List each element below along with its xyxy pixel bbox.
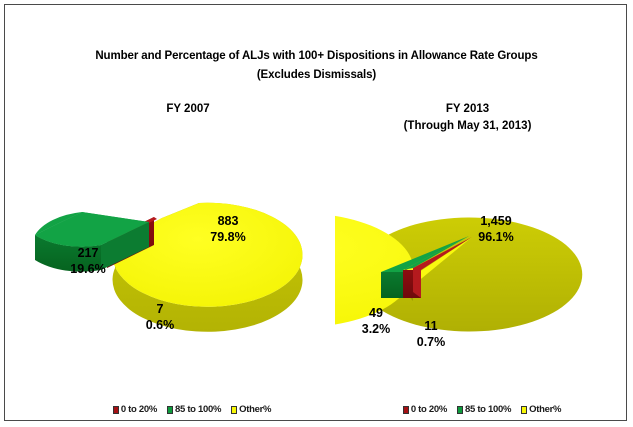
legend-item-0to20[interactable]: 0 to 20% [113, 404, 157, 415]
legend-fy2013: 0 to 20% 85 to 100% Other% [357, 404, 607, 415]
data-label-value: 7 [129, 301, 191, 317]
data-label-value: 883 [197, 213, 259, 229]
data-label-fy2007-other: 883 79.8% [197, 213, 259, 245]
data-label-fy2013-other: 1,459 96.1% [461, 213, 531, 245]
data-label-percent: 79.8% [197, 229, 259, 245]
data-label-fy2007-0to20: 7 0.6% [129, 301, 191, 333]
legend-item-85to100[interactable]: 85 to 100% [457, 404, 511, 415]
data-label-value: 11 [405, 318, 457, 334]
pie-slice-85to100-side [381, 272, 403, 298]
legend-fy2007: 0 to 20% 85 to 100% Other% [67, 404, 317, 415]
legend-label-85to100: 85 to 100% [465, 404, 511, 415]
data-label-percent: 19.6% [57, 261, 119, 277]
data-label-fy2007-85to100: 217 19.6% [57, 245, 119, 277]
legend-label-other: Other% [529, 404, 561, 415]
legend-swatch-green-icon [457, 406, 463, 414]
legend-swatch-red-icon [403, 406, 409, 414]
legend-label-other: Other% [239, 404, 271, 415]
data-label-fy2013-0to20: 11 0.7% [405, 318, 457, 350]
data-label-percent: 96.1% [461, 229, 531, 245]
pie-chart-fy2013 [335, 180, 625, 365]
legend-label-0to20: 0 to 20% [411, 404, 447, 415]
data-label-value: 49 [350, 305, 402, 321]
data-label-percent: 0.6% [129, 317, 191, 333]
data-label-percent: 3.2% [350, 321, 402, 337]
legend-item-other[interactable]: Other% [231, 404, 271, 415]
legend-swatch-green-icon [167, 406, 173, 414]
legend-label-0to20: 0 to 20% [121, 404, 157, 415]
data-label-percent: 0.7% [405, 334, 457, 350]
chart-plot-area: 883 79.8% 217 19.6% 7 0.6% 1,459 96.1% 4… [5, 5, 628, 422]
legend-swatch-red-icon [113, 406, 119, 414]
data-label-value: 217 [57, 245, 119, 261]
chart-frame: Number and Percentage of ALJs with 100+ … [4, 4, 627, 421]
data-label-value: 1,459 [461, 213, 531, 229]
legend-swatch-yellow-icon [521, 406, 527, 414]
legend-swatch-yellow-icon [231, 406, 237, 414]
data-label-fy2013-85to100: 49 3.2% [350, 305, 402, 337]
legend-item-85to100[interactable]: 85 to 100% [167, 404, 221, 415]
legend-label-85to100: 85 to 100% [175, 404, 221, 415]
legend-item-other[interactable]: Other% [521, 404, 561, 415]
legend-item-0to20[interactable]: 0 to 20% [403, 404, 447, 415]
